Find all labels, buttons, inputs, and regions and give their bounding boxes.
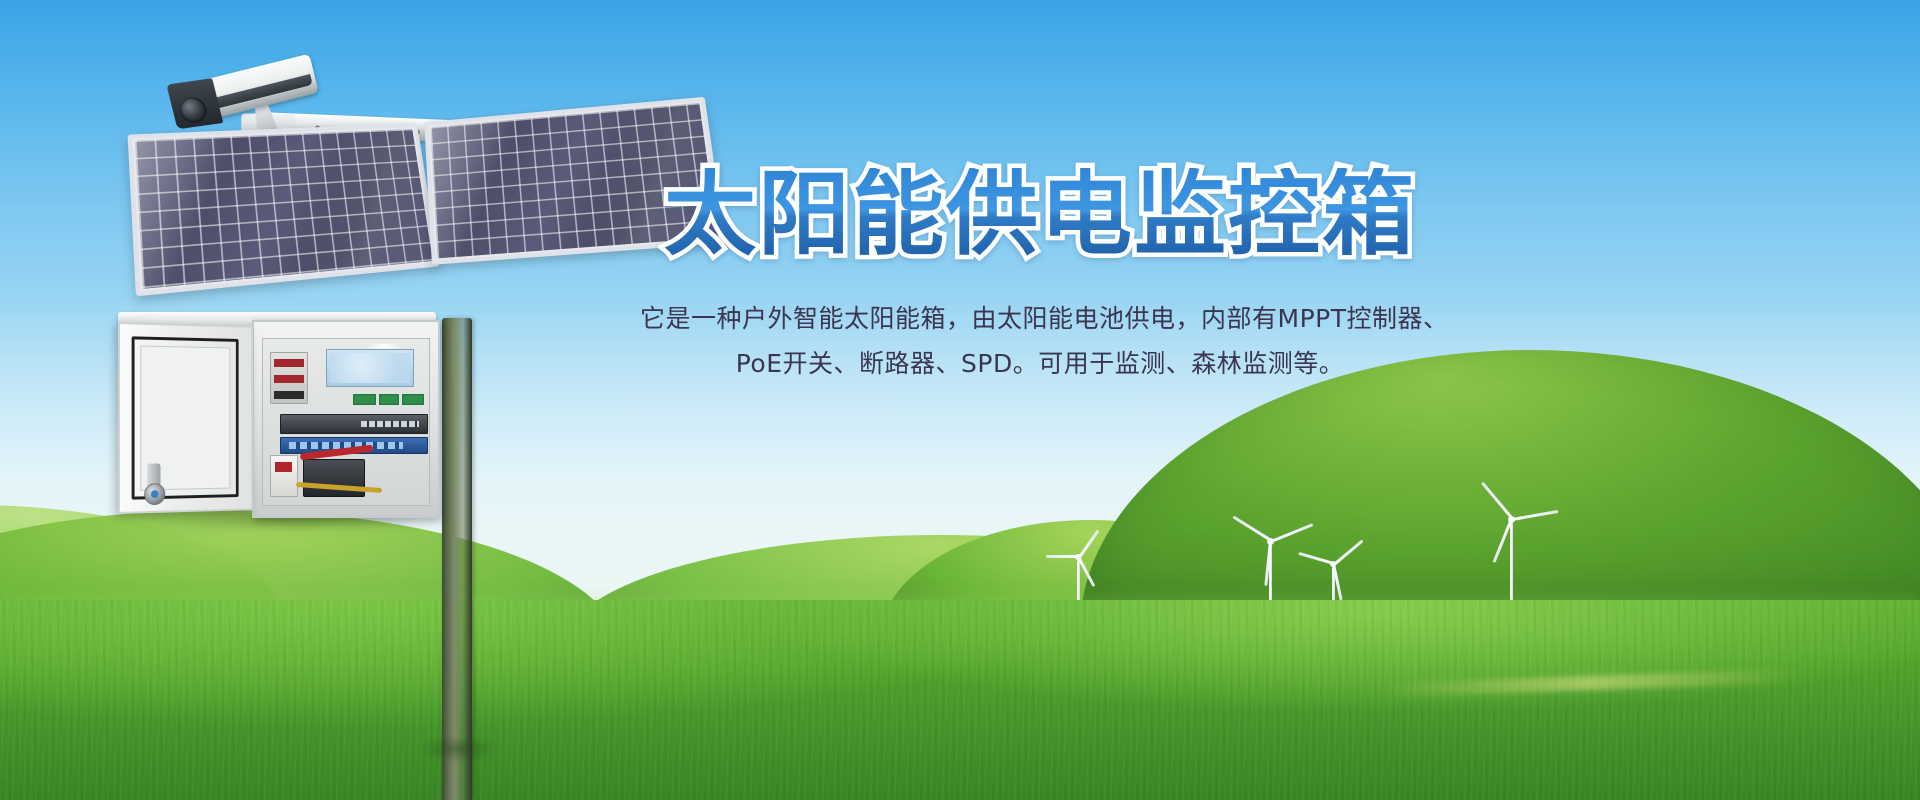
mounting-pole — [442, 318, 472, 800]
mppt-controller-screen — [326, 349, 414, 388]
cabinet-enclosure — [252, 320, 440, 518]
solar-monitoring-banner: 太阳能供电监控箱 太阳能供电监控箱 它是一种户外智能太阳能箱，由太阳能电池供电，… — [0, 0, 1920, 800]
pole-ground-shadow — [418, 740, 498, 762]
banner-subtitle-line-2: PoE开关、断路器、SPD。可用于监测、森林监测等。 — [640, 341, 1440, 387]
solar-panel-left — [128, 123, 440, 296]
circuit-breaker — [270, 455, 299, 497]
solar-cells-left — [135, 129, 433, 289]
cabinet-door[interactable] — [118, 322, 253, 514]
green-terminal-1 — [353, 394, 376, 406]
battery-pack — [303, 459, 365, 498]
cabinet-interior — [262, 338, 430, 506]
banner-text-block: 太阳能供电监控箱 太阳能供电监控箱 它是一种户外智能太阳能箱，由太阳能电池供电，… — [640, 168, 1440, 387]
green-terminal-3 — [402, 394, 424, 406]
poe-switch — [280, 414, 428, 434]
banner-subtitle: 它是一种户外智能太阳能箱，由太阳能电池供电，内部有MPPT控制器、 PoE开关、… — [640, 296, 1440, 387]
cabinet-door-lock-icon[interactable] — [144, 483, 165, 505]
terminal-block — [270, 352, 309, 404]
green-terminal-2 — [379, 394, 399, 406]
banner-title: 太阳能供电监控箱 — [664, 168, 1416, 262]
solar-power-cabinet — [118, 312, 436, 514]
banner-title-wrap: 太阳能供电监控箱 太阳能供电监控箱 — [664, 168, 1416, 262]
banner-subtitle-line-1: 它是一种户外智能太阳能箱，由太阳能电池供电，内部有MPPT控制器、 — [640, 296, 1440, 342]
foreground-grass — [0, 600, 1920, 800]
